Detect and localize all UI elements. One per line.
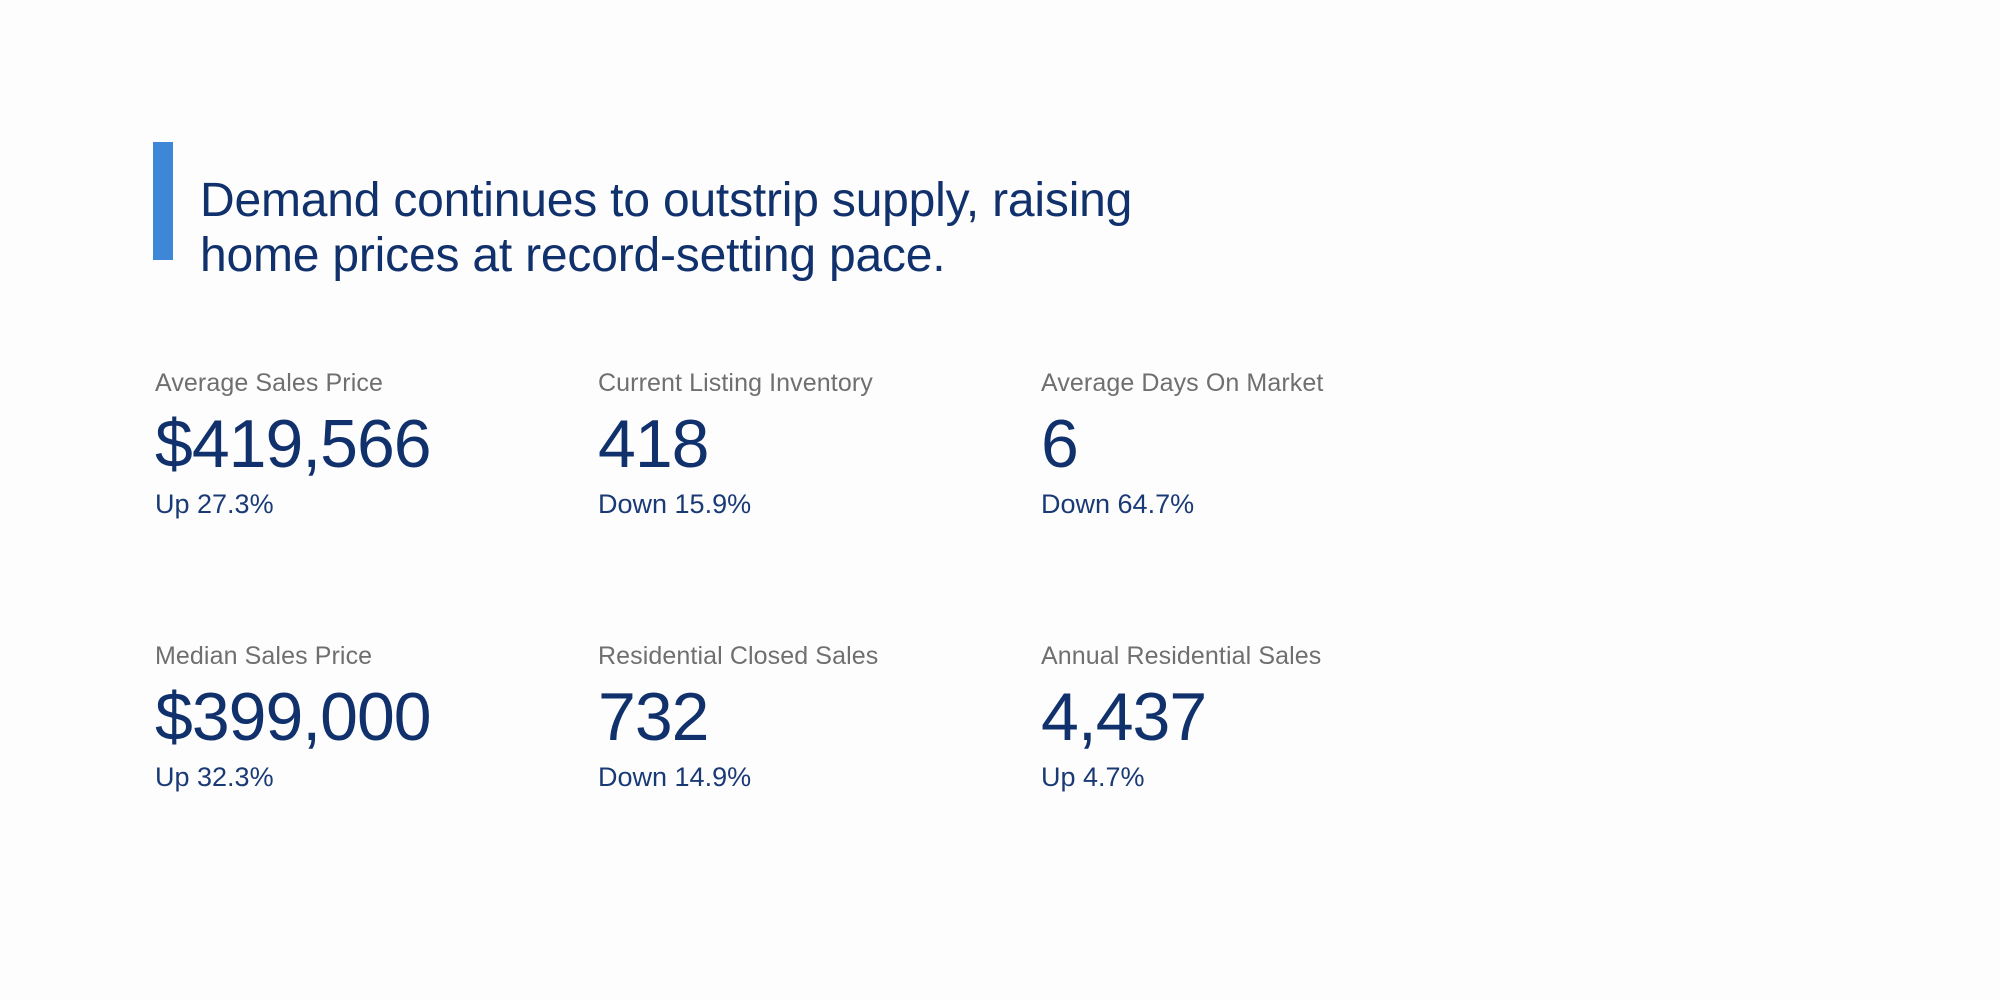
stat-value: 4,437 bbox=[1041, 679, 1484, 755]
stat-card-annual-residential-sales: Annual Residential Sales 4,437 Up 4.7% bbox=[1041, 641, 1484, 794]
stat-label: Average Sales Price bbox=[155, 368, 598, 398]
stat-card-residential-closed-sales: Residential Closed Sales 732 Down 14.9% bbox=[598, 641, 1041, 794]
stat-label: Residential Closed Sales bbox=[598, 641, 1041, 671]
stat-value: $399,000 bbox=[155, 679, 598, 755]
stat-delta: Down 15.9% bbox=[598, 488, 1041, 520]
page-title: Demand continues to outstrip supply, rai… bbox=[200, 174, 1132, 283]
stat-delta: Up 4.7% bbox=[1041, 761, 1484, 793]
stats-grid: Average Sales Price $419,566 Up 27.3% Cu… bbox=[155, 368, 1575, 793]
stat-card-current-listing-inventory: Current Listing Inventory 418 Down 15.9% bbox=[598, 368, 1041, 521]
stat-label: Average Days On Market bbox=[1041, 368, 1484, 398]
stat-card-average-sales-price: Average Sales Price $419,566 Up 27.3% bbox=[155, 368, 598, 521]
stat-card-average-days-on-market: Average Days On Market 6 Down 64.7% bbox=[1041, 368, 1484, 521]
stat-value: $419,566 bbox=[155, 406, 598, 482]
stat-delta: Down 14.9% bbox=[598, 761, 1041, 793]
stat-delta: Up 32.3% bbox=[155, 761, 598, 793]
stat-label: Median Sales Price bbox=[155, 641, 598, 671]
stat-delta: Down 64.7% bbox=[1041, 488, 1484, 520]
stat-value: 418 bbox=[598, 406, 1041, 482]
accent-bar bbox=[153, 142, 173, 260]
stat-delta: Up 27.3% bbox=[155, 488, 598, 520]
stat-value: 732 bbox=[598, 679, 1041, 755]
stat-label: Annual Residential Sales bbox=[1041, 641, 1484, 671]
stat-card-median-sales-price: Median Sales Price $399,000 Up 32.3% bbox=[155, 641, 598, 794]
stat-label: Current Listing Inventory bbox=[598, 368, 1041, 398]
stat-value: 6 bbox=[1041, 406, 1484, 482]
headline-block: Demand continues to outstrip supply, rai… bbox=[153, 142, 1132, 316]
infographic-canvas: Demand continues to outstrip supply, rai… bbox=[0, 0, 2000, 1000]
